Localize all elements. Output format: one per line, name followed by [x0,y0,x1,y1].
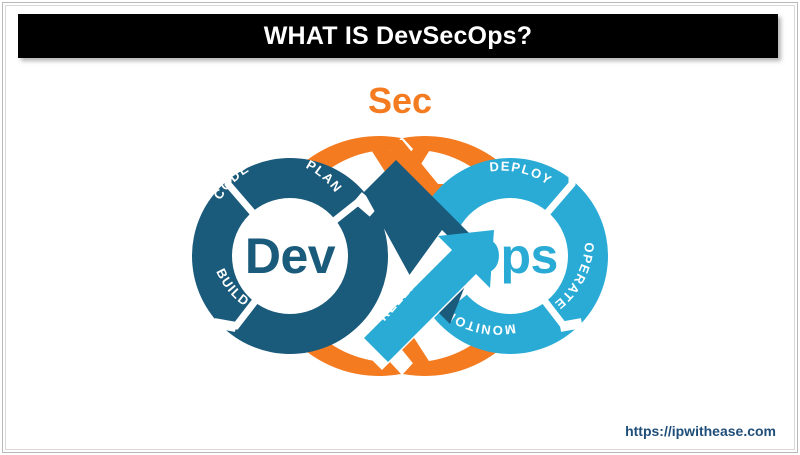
dev-loop-group: Dev CODE PLAN BUILD TEST [192,157,388,354]
title-banner: WHAT IS DevSecOps? [18,14,778,58]
source-url: https://ipwithease.com [625,423,776,439]
ring-notch-left-top [282,128,300,144]
ring-notch-left [159,256,175,276]
ring-notch-right-top [500,128,518,144]
devsecops-infinity-diagram: Dev CODE PLAN BUILD TEST [120,80,680,400]
ring-notch-right-bottom [510,370,530,386]
ring-notch-right [625,256,641,276]
ring-notch-left-bottom [270,370,290,386]
infinity-loop-svg: Dev CODE PLAN BUILD TEST [120,80,680,400]
page-title: WHAT IS DevSecOps? [264,22,532,51]
infographic-page: WHAT IS DevSecOps? [0,0,800,455]
dev-core-label: Dev [245,228,336,284]
